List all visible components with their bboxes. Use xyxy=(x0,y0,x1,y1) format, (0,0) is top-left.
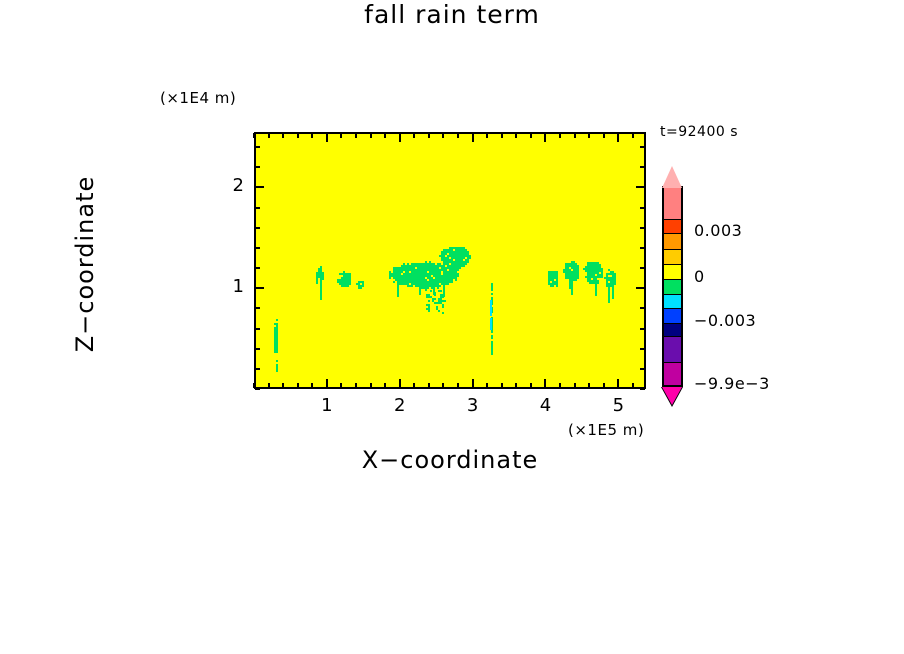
field-cell xyxy=(465,263,467,265)
colorbar-band-2 xyxy=(664,234,681,250)
y-tick xyxy=(255,146,260,148)
x-tick xyxy=(340,383,342,388)
x-tick xyxy=(603,383,605,388)
field-cell-drizzle xyxy=(612,285,614,299)
field-cell xyxy=(491,289,493,291)
x-tick-top xyxy=(326,133,328,142)
field-cell xyxy=(601,276,603,278)
y-tick xyxy=(255,368,260,370)
x-tick xyxy=(282,383,284,388)
x-tick xyxy=(588,383,590,388)
field-cell xyxy=(434,298,436,300)
y-tick-right xyxy=(640,328,645,330)
contour-plot-area[interactable] xyxy=(254,132,646,389)
x-tick xyxy=(326,379,328,388)
x-tick-top xyxy=(632,133,634,138)
y-axis-title: Z−coordinate xyxy=(71,154,99,374)
field-cell xyxy=(434,294,436,296)
field-cell xyxy=(276,319,278,321)
colorbar-band-5 xyxy=(664,280,681,295)
field-cell xyxy=(430,290,432,292)
y-tick-right xyxy=(640,307,645,309)
colorbar xyxy=(662,186,683,387)
y-tick-right xyxy=(640,207,645,209)
field-cell xyxy=(276,351,278,353)
x-axis-unit-label: (×1E5 m) xyxy=(568,421,644,439)
field-cell-drizzle xyxy=(595,282,597,296)
field-cell xyxy=(575,279,577,281)
x-tick-top xyxy=(588,133,590,138)
field-cell xyxy=(463,265,465,267)
field-cell xyxy=(491,337,493,339)
x-tick xyxy=(370,383,372,388)
x-tick-top xyxy=(253,133,255,138)
field-cell xyxy=(428,300,430,302)
field-cell xyxy=(393,281,395,283)
x-tick-top xyxy=(355,133,357,138)
x-tick-top xyxy=(559,133,561,138)
x-tick xyxy=(355,383,357,388)
x-tick-top xyxy=(384,133,386,138)
colorbar-band-9 xyxy=(664,337,681,363)
colorbar-label-3: −9.9e−3 xyxy=(694,374,770,393)
x-tick xyxy=(268,383,270,388)
x-tick-top xyxy=(515,133,517,138)
y-tick-label-1: 2 xyxy=(216,175,244,196)
field-cell xyxy=(442,306,444,308)
field-cell xyxy=(457,275,459,277)
y-tick-right xyxy=(640,348,645,350)
x-tick xyxy=(428,383,430,388)
y-tick-right xyxy=(640,146,645,148)
field-cell xyxy=(457,269,459,271)
y-tick-right xyxy=(636,287,645,289)
colorbar-band-0 xyxy=(664,188,681,220)
x-tick xyxy=(515,383,517,388)
y-tick-right xyxy=(640,247,645,249)
colorbar-band-7 xyxy=(664,309,681,324)
page-title: fall rain term xyxy=(0,0,904,29)
y-tick xyxy=(255,348,260,350)
field-cell-drizzle xyxy=(608,285,610,303)
x-tick-label-4: 5 xyxy=(598,395,638,416)
field-cell xyxy=(437,287,439,289)
field-cell xyxy=(347,285,349,287)
field-cell xyxy=(431,287,433,289)
x-tick xyxy=(442,383,444,388)
x-tick-top xyxy=(399,133,401,142)
x-tick-top xyxy=(574,133,576,138)
field-cell xyxy=(447,283,449,285)
colorbar-label-1: 0 xyxy=(694,267,705,286)
colorbar-band-10 xyxy=(664,363,681,385)
x-tick-top xyxy=(501,133,503,138)
x-tick-top xyxy=(530,133,532,138)
x-tick xyxy=(559,383,561,388)
x-tick-top xyxy=(428,133,430,138)
x-tick xyxy=(297,383,299,388)
field-cell xyxy=(411,285,413,287)
colorbar-label-2: −0.003 xyxy=(694,311,756,330)
y-tick-label-0: 1 xyxy=(216,276,244,297)
y-tick-right xyxy=(640,166,645,168)
y-tick-right xyxy=(640,368,645,370)
field-cell xyxy=(490,328,492,330)
x-tick-top xyxy=(617,133,619,142)
field-cell xyxy=(490,314,492,316)
colorbar-bottom-arrow xyxy=(662,387,682,405)
y-tick xyxy=(255,207,260,209)
y-tick xyxy=(255,287,264,289)
x-tick xyxy=(544,379,546,388)
field-cell xyxy=(349,283,351,285)
field-cell xyxy=(491,331,493,333)
y-tick xyxy=(255,307,260,309)
x-tick-label-2: 3 xyxy=(453,395,493,416)
field-cell xyxy=(427,287,429,289)
x-tick xyxy=(486,383,488,388)
time-annotation: t=92400 s xyxy=(660,124,738,140)
x-tick-top xyxy=(311,133,313,138)
field-cell xyxy=(614,283,616,285)
x-tick xyxy=(399,379,401,388)
field-cell xyxy=(577,277,579,279)
field-cell xyxy=(571,281,573,283)
field-cell xyxy=(469,257,471,259)
field-cell-drizzle xyxy=(556,283,558,287)
x-tick xyxy=(617,379,619,388)
field-cell xyxy=(442,312,444,314)
x-tick-label-0: 1 xyxy=(307,395,347,416)
field-cell xyxy=(455,279,457,281)
x-tick-top xyxy=(603,133,605,138)
colorbar-band-6 xyxy=(664,295,681,309)
x-tick-top xyxy=(472,133,474,142)
field-cell xyxy=(316,282,318,284)
x-tick-top xyxy=(457,133,459,138)
field-cell xyxy=(491,293,493,295)
colorbar-band-3 xyxy=(664,250,681,265)
colorbar-top-arrow xyxy=(662,166,682,188)
field-cell xyxy=(389,277,391,279)
y-tick-right xyxy=(640,388,645,390)
colorbar-band-1 xyxy=(664,220,681,234)
field-cell xyxy=(276,370,278,372)
y-tick xyxy=(255,267,260,269)
field-cell xyxy=(467,261,469,263)
field-cell xyxy=(597,282,599,284)
y-tick-right xyxy=(640,227,645,229)
field-cell xyxy=(439,285,441,287)
x-tick-top xyxy=(340,133,342,138)
field-cell xyxy=(459,267,461,269)
x-axis-title: X−coordinate xyxy=(254,446,646,474)
field-cell-drizzle xyxy=(320,282,322,300)
y-tick xyxy=(255,247,260,249)
field-cell xyxy=(442,296,444,298)
field-cell xyxy=(438,310,440,312)
x-tick-top xyxy=(282,133,284,138)
y-tick-right xyxy=(640,267,645,269)
x-tick xyxy=(311,383,313,388)
x-tick xyxy=(413,383,415,388)
field-cell xyxy=(428,310,430,312)
y-axis-unit-label: (×1E4 m) xyxy=(160,89,236,107)
y-tick xyxy=(255,328,260,330)
x-tick xyxy=(530,383,532,388)
y-tick-right xyxy=(636,186,645,188)
field-cell xyxy=(491,353,493,355)
x-tick xyxy=(472,379,474,388)
x-tick-label-3: 4 xyxy=(525,395,565,416)
field-cell xyxy=(440,290,442,292)
x-tick-top xyxy=(544,133,546,142)
x-tick-top xyxy=(486,133,488,138)
field-cell xyxy=(276,360,278,362)
field-cell xyxy=(451,281,453,283)
field-cell-drizzle xyxy=(451,267,453,281)
y-tick xyxy=(255,186,264,188)
y-tick xyxy=(255,388,260,390)
x-tick-top xyxy=(413,133,415,138)
colorbar-band-4 xyxy=(664,265,681,280)
y-tick xyxy=(255,166,260,168)
x-tick-top xyxy=(370,133,372,138)
field-cell xyxy=(360,287,362,289)
x-tick xyxy=(384,383,386,388)
x-tick xyxy=(574,383,576,388)
field-cell xyxy=(322,278,324,280)
field-cell xyxy=(362,285,364,287)
x-tick xyxy=(632,383,634,388)
x-tick-top xyxy=(297,133,299,138)
x-tick-label-1: 2 xyxy=(380,395,420,416)
x-tick xyxy=(501,383,503,388)
field-cell xyxy=(552,285,554,287)
x-tick-top xyxy=(268,133,270,138)
field-cell xyxy=(444,300,446,302)
y-tick xyxy=(255,227,260,229)
field-cells xyxy=(256,134,644,387)
x-tick-top xyxy=(442,133,444,138)
colorbar-label-0: 0.003 xyxy=(694,221,742,240)
x-tick xyxy=(457,383,459,388)
